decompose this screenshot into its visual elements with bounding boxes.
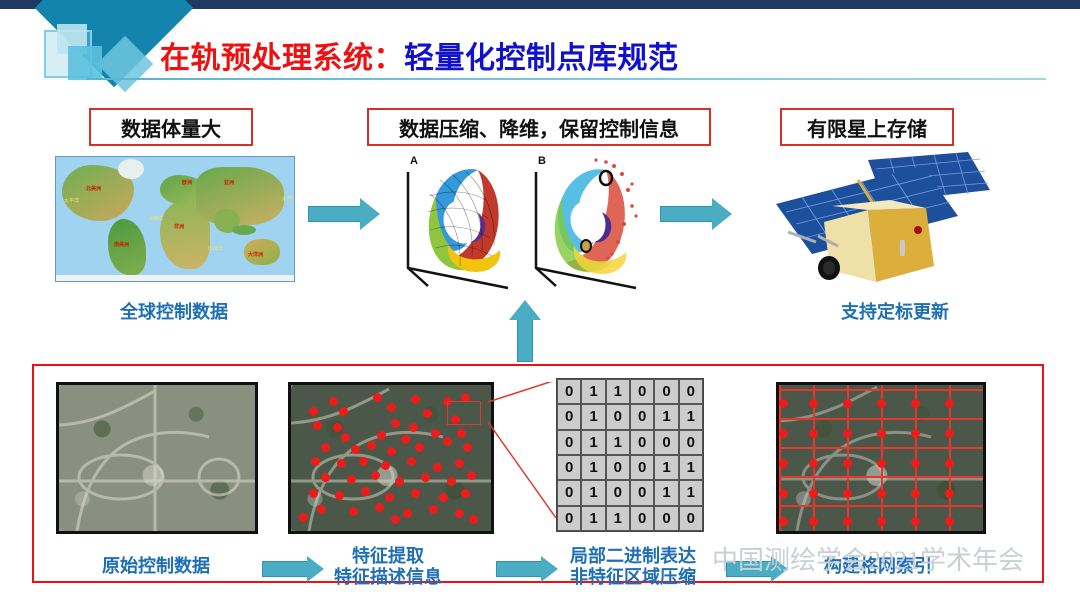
matrix-cell: 0 (557, 480, 581, 505)
map-label-atlantic: 大西洋 (148, 215, 163, 222)
matrix-cell: 1 (606, 379, 630, 404)
matrix-cell: 1 (606, 506, 630, 531)
page-title: 在轨预处理系统：轻量化控制点库规范 (160, 33, 679, 77)
landmass-asia (196, 167, 284, 225)
matrix-cell: 1 (654, 480, 678, 505)
matrix-cell: 1 (581, 455, 605, 480)
matrix-cell: 0 (557, 506, 581, 531)
map-label-pacific-west: 太平洋 (282, 195, 295, 202)
page-title-blue-part: 轻量化控制点库规范 (404, 42, 679, 75)
matrix-cell: 1 (581, 379, 605, 404)
map-label-north-america: 北美洲 (86, 185, 101, 192)
satellite-camera-lens (818, 256, 840, 280)
aerial-image-original (56, 382, 258, 534)
map-label-pacific-east: 太平洋 (64, 197, 79, 204)
matrix-cell: 0 (679, 379, 703, 404)
matrix-cell: 0 (557, 430, 581, 455)
caption-binary-representation-line1: 局部二进制表达 (548, 546, 718, 567)
matrix-cell: 0 (630, 430, 654, 455)
manifold-figure: A B (400, 150, 660, 290)
arrow-manifold-to-satellite (660, 198, 732, 230)
matrix-cell: 1 (679, 455, 703, 480)
satellite-svg (772, 150, 1022, 295)
map-label-indian: 印度洋 (208, 245, 223, 252)
matrix-cell: 1 (581, 404, 605, 429)
caption-original-control-data: 原始控制数据 (58, 556, 254, 576)
satellite-image (772, 150, 1022, 295)
arrow-bottom-to-manifold (509, 300, 541, 362)
caption-calibration-update: 支持定标更新 (770, 302, 1020, 322)
map-label-south-america: 南美洲 (114, 241, 129, 248)
matrix-cell: 0 (630, 480, 654, 505)
matrix-cell: 1 (581, 430, 605, 455)
aerial-image-feature-points (288, 382, 494, 534)
world-map-image: 北美洲 南美洲 欧洲 亚洲 非洲 大洋洲 太平洋 大西洋 印度洋 太平洋 (55, 156, 295, 282)
landmass-greenland (118, 159, 144, 179)
matrix-cell: 0 (679, 430, 703, 455)
matrix-cell: 1 (679, 404, 703, 429)
caption-global-control-data: 全球控制数据 (60, 302, 288, 322)
title-underline (86, 78, 1046, 80)
map-label-asia: 亚洲 (224, 179, 234, 186)
matrix-cell: 0 (630, 455, 654, 480)
map-label-oceania: 大洋洲 (248, 251, 263, 258)
manifold-surface-a (422, 169, 502, 274)
binary-matrix: 0 1 1 0 0 0 0 1 0 0 1 1 0 1 1 0 0 0 0 1 … (556, 378, 704, 532)
matrix-cell: 1 (606, 430, 630, 455)
label-box-onboard-storage: 有限星上存储 (780, 108, 954, 146)
matrix-cell: 0 (557, 455, 581, 480)
matrix-cell: 0 (630, 506, 654, 531)
watermark: 中国测绘学会2021学术年会 (712, 540, 1024, 577)
matrix-cell: 0 (654, 379, 678, 404)
matrix-cell: 0 (606, 480, 630, 505)
manifold-svg (400, 150, 660, 290)
landmass-antarctica (56, 275, 294, 282)
matrix-cell: 0 (630, 379, 654, 404)
matrix-cell: 1 (581, 480, 605, 505)
matrix-cell: 1 (654, 455, 678, 480)
aerial-image-grid-index (776, 382, 986, 534)
matrix-cell: 0 (654, 506, 678, 531)
matrix-cell: 0 (557, 379, 581, 404)
matrix-cell: 0 (606, 404, 630, 429)
label-box-data-volume: 数据体量大 (89, 108, 253, 146)
caption-feature-extraction-line1: 特征提取 (288, 546, 488, 567)
matrix-cell: 0 (606, 455, 630, 480)
arrow-map-to-manifold (308, 198, 380, 230)
map-label-europe: 欧洲 (182, 179, 192, 186)
matrix-cell: 0 (557, 404, 581, 429)
header-square-solid-decoration (68, 46, 102, 80)
slide-canvas: 在轨预处理系统：轻量化控制点库规范 数据体量大 数据压缩、降维，保留控制信息 有… (0, 0, 1080, 607)
label-box-compression: 数据压缩、降维，保留控制信息 (367, 108, 711, 146)
matrix-cell: 1 (581, 506, 605, 531)
map-label-africa: 非洲 (174, 223, 184, 230)
caption-feature-extraction: 特征提取 特征描述信息 (288, 546, 488, 588)
matrix-cell: 1 (654, 404, 678, 429)
matrix-cell: 0 (654, 430, 678, 455)
zoom-connector-lines (470, 382, 570, 532)
aerial-road-overlay (59, 385, 255, 531)
caption-binary-representation-line2: 非特征区域压缩 (548, 567, 718, 588)
caption-feature-extraction-line2: 特征描述信息 (288, 567, 488, 588)
matrix-cell: 0 (630, 404, 654, 429)
manifold-pointcloud-b (555, 158, 638, 274)
page-title-red-part: 在轨预处理系统： (160, 42, 404, 75)
caption-binary-representation: 局部二进制表达 非特征区域压缩 (548, 546, 718, 588)
matrix-cell: 0 (679, 506, 703, 531)
matrix-cell: 1 (679, 480, 703, 505)
landmass-indonesia (232, 225, 256, 235)
